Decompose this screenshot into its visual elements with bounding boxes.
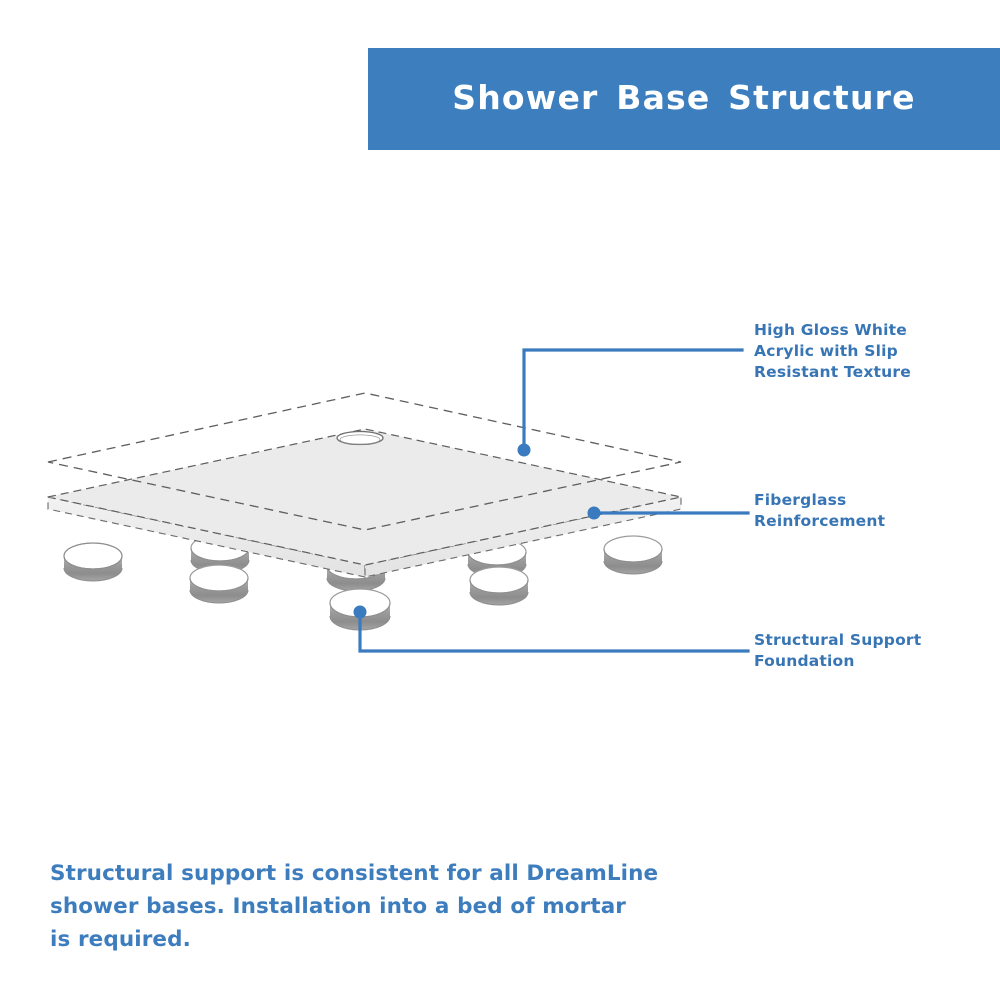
callout-fiberglass-line-1: Fiberglass	[754, 490, 885, 511]
drain-opening	[337, 432, 383, 445]
callout-structural-line-1: Structural Support	[754, 630, 921, 651]
caption-line-2: shower bases. Installation into a bed of…	[50, 890, 690, 923]
callout-structural: Structural Support Foundation	[754, 630, 921, 672]
caption-line-1: Structural support is consistent for all…	[50, 857, 690, 890]
diagram-page: Shower Base Structure	[0, 0, 1000, 1000]
support-ring	[604, 536, 662, 574]
support-ring	[470, 567, 528, 605]
leader-dot	[588, 507, 601, 520]
callout-fiberglass-line-2: Reinforcement	[754, 511, 885, 532]
callout-acrylic-line-1: High Gloss White	[754, 320, 911, 341]
callout-structural-line-2: Foundation	[754, 651, 921, 672]
callout-acrylic-line-2: Acrylic with Slip	[754, 341, 911, 362]
leader-dot	[518, 444, 531, 457]
callout-fiberglass: Fiberglass Reinforcement	[754, 490, 885, 532]
fiberglass-slab-layer	[48, 429, 681, 577]
caption-line-3: is required.	[50, 923, 690, 956]
slab-top-face	[48, 429, 681, 565]
support-ring	[190, 565, 248, 603]
support-ring	[64, 543, 122, 581]
leader-line-acrylic	[518, 350, 743, 457]
callout-acrylic-line-3: Resistant Texture	[754, 362, 911, 383]
footer-caption: Structural support is consistent for all…	[50, 857, 690, 956]
leader-line-structural	[354, 606, 749, 652]
callout-acrylic: High Gloss White Acrylic with Slip Resis…	[754, 320, 911, 383]
leader-dot	[354, 606, 367, 619]
